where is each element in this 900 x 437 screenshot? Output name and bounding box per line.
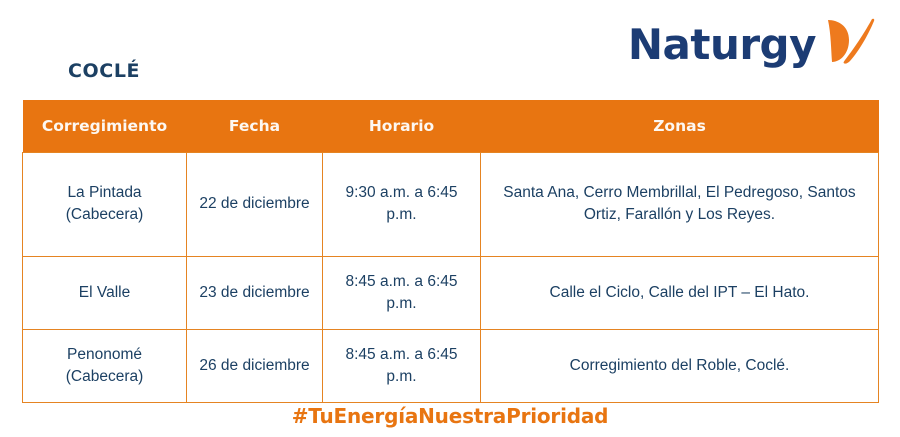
column-header-corregimiento: Corregimiento: [23, 100, 187, 152]
column-header-horario: Horario: [323, 100, 481, 152]
cell-fecha: 23 de diciembre: [187, 256, 323, 329]
table-row: Penonomé (Cabecera) 26 de diciembre 8:45…: [23, 329, 879, 402]
table-body: La Pintada (Cabecera) 22 de diciembre 9:…: [23, 152, 879, 402]
naturgy-wordmark: Naturgy: [628, 24, 816, 66]
cell-zonas: Calle el Ciclo, Calle del IPT – El Hato.: [481, 256, 879, 329]
cell-fecha: 22 de diciembre: [187, 152, 323, 256]
column-header-fecha: Fecha: [187, 100, 323, 152]
outage-schedule-page: Naturgy COCLÉ Corregimiento Fecha Horari…: [0, 0, 900, 437]
cell-zonas: Corregimiento del Roble, Coclé.: [481, 329, 879, 402]
cell-corregimiento: Penonomé (Cabecera): [23, 329, 187, 402]
cell-horario: 8:45 a.m. a 6:45 p.m.: [323, 256, 481, 329]
cell-horario: 9:30 a.m. a 6:45 p.m.: [323, 152, 481, 256]
cell-horario: 8:45 a.m. a 6:45 p.m.: [323, 329, 481, 402]
outage-schedule-table: Corregimiento Fecha Horario Zonas La Pin…: [22, 100, 879, 403]
campaign-hashtag: #TuEnergíaNuestraPrioridad: [0, 404, 900, 428]
cell-zonas: Santa Ana, Cerro Membrillal, El Pedregos…: [481, 152, 879, 256]
naturgy-flame-icon: [822, 16, 878, 74]
table-header-row: Corregimiento Fecha Horario Zonas: [23, 100, 879, 152]
column-header-zonas: Zonas: [481, 100, 879, 152]
table-header: Corregimiento Fecha Horario Zonas: [23, 100, 879, 152]
table-row: El Valle 23 de diciembre 8:45 a.m. a 6:4…: [23, 256, 879, 329]
naturgy-logo: Naturgy: [628, 16, 878, 74]
province-title: COCLÉ: [68, 60, 140, 82]
cell-corregimiento: El Valle: [23, 256, 187, 329]
table-row: La Pintada (Cabecera) 22 de diciembre 9:…: [23, 152, 879, 256]
cell-fecha: 26 de diciembre: [187, 329, 323, 402]
cell-corregimiento: La Pintada (Cabecera): [23, 152, 187, 256]
